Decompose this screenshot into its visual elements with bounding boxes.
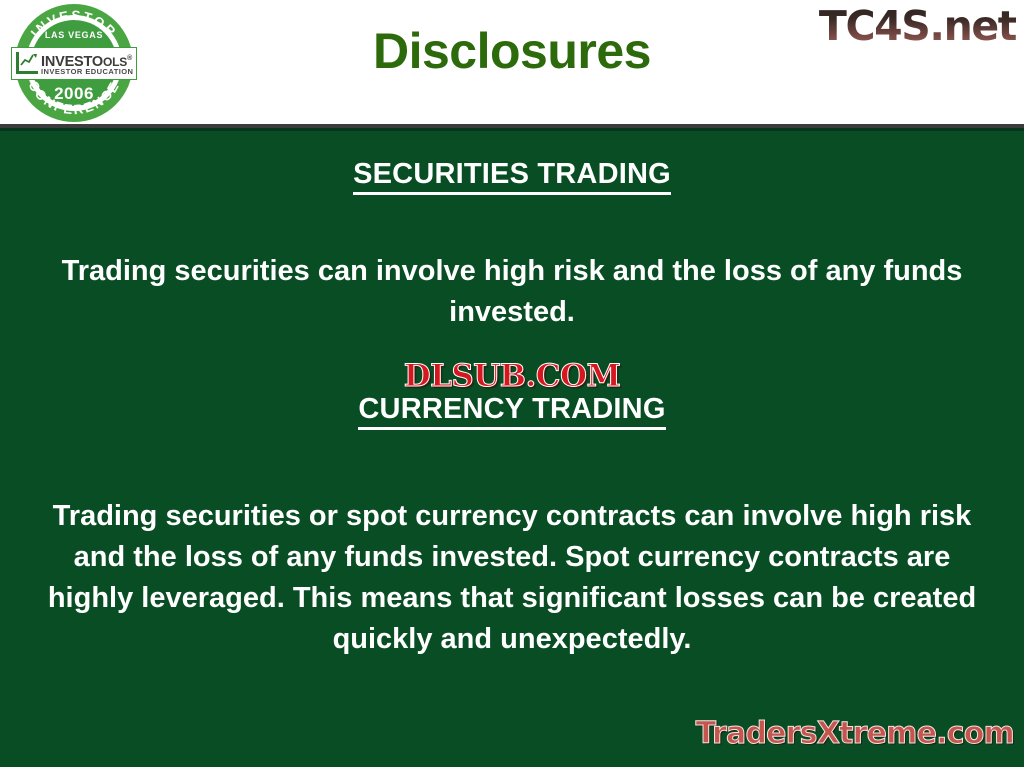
badge-year-label: 2006: [15, 84, 133, 104]
section-heading-securities: SECURITIES TRADING: [0, 158, 1024, 191]
badge-location-label: LAS VEGAS: [15, 30, 133, 40]
section-heading-currency: CURRENCY TRADING: [0, 393, 1024, 426]
slide-body: SECURITIES TRADING Trading securities ca…: [0, 131, 1024, 767]
section-body-securities: Trading securities can involve high risk…: [0, 251, 1024, 333]
section-heading-securities-text: SECURITIES TRADING: [353, 158, 671, 195]
investools-brand-tagline: INVESTOR EDUCATION: [41, 67, 136, 76]
tc4s-wordmark: TC4S.net: [819, 2, 1016, 50]
section-heading-currency-text: CURRENCY TRADING: [358, 393, 665, 430]
chart-icon: [16, 52, 38, 74]
slide-header: INVESTOR CONFERENCE LAS VEGAS INVESTOOLS…: [0, 0, 1024, 124]
page-title: Disclosures: [232, 22, 792, 80]
dlsub-watermark: DLSUB.COM: [0, 358, 1024, 394]
slide-canvas: INVESTOR CONFERENCE LAS VEGAS INVESTOOLS…: [0, 0, 1024, 767]
tradersxtreme-watermark: TradersXtreme.com: [696, 716, 1014, 751]
section-body-currency: Trading securities or spot currency cont…: [0, 496, 1024, 660]
investools-brand-plate: INVESTOOLS® INVESTOR EDUCATION: [11, 47, 137, 80]
investor-conference-badge-logo: INVESTOR CONFERENCE LAS VEGAS INVESTOOLS…: [11, 4, 137, 122]
